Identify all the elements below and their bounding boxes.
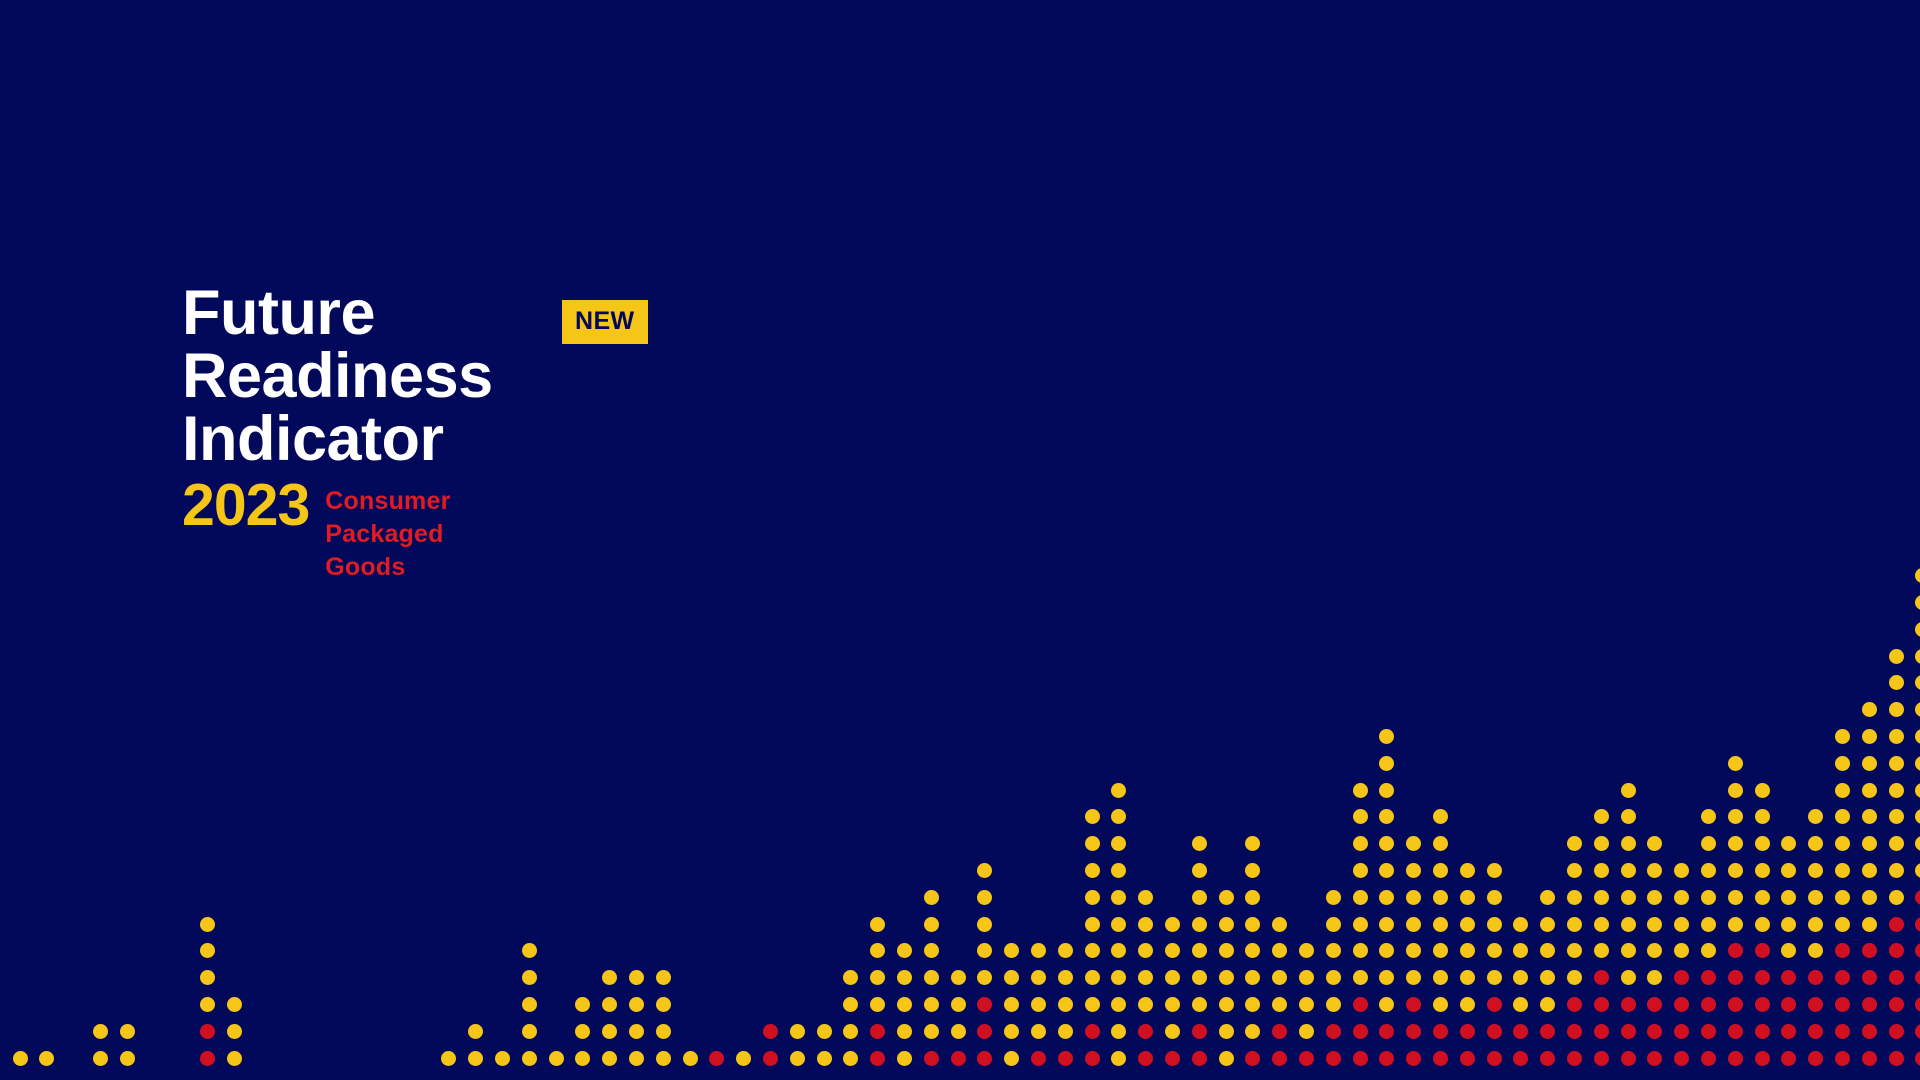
matrix-dot (1111, 890, 1126, 905)
matrix-dot (683, 1051, 698, 1066)
matrix-dot (1353, 997, 1368, 1012)
matrix-dot (1621, 836, 1636, 851)
matrix-dot (1219, 1051, 1234, 1066)
matrix-dot (1085, 890, 1100, 905)
matrix-dot (1728, 1024, 1743, 1039)
matrix-dot (1835, 1051, 1850, 1066)
matrix-dot (924, 943, 939, 958)
matrix-dot (1915, 970, 1920, 985)
matrix-dot (1808, 917, 1823, 932)
matrix-dot (1755, 783, 1770, 798)
matrix-dot (977, 970, 992, 985)
matrix-dot (1219, 997, 1234, 1012)
matrix-dot (656, 997, 671, 1012)
matrix-dot (1915, 836, 1920, 851)
matrix-dot (1138, 1024, 1153, 1039)
matrix-dot (1085, 917, 1100, 932)
matrix-dot (1111, 917, 1126, 932)
matrix-dot (1728, 1051, 1743, 1066)
matrix-dot (924, 917, 939, 932)
matrix-dot (629, 1051, 644, 1066)
matrix-dot (1755, 1051, 1770, 1066)
matrix-dot (1621, 809, 1636, 824)
matrix-dot (1299, 1024, 1314, 1039)
matrix-dot (1701, 863, 1716, 878)
matrix-dot (1353, 917, 1368, 932)
matrix-dot (1567, 1024, 1582, 1039)
matrix-dot (1245, 1051, 1260, 1066)
matrix-dot (575, 1051, 590, 1066)
matrix-dot (522, 1051, 537, 1066)
matrix-dot (1594, 997, 1609, 1012)
matrix-dot (656, 1024, 671, 1039)
matrix-dot (1406, 943, 1421, 958)
matrix-dot (1728, 809, 1743, 824)
matrix-dot (1915, 809, 1920, 824)
matrix-dot (1326, 1051, 1341, 1066)
matrix-dot (1701, 997, 1716, 1012)
matrix-dot (1219, 943, 1234, 958)
matrix-dot (1111, 997, 1126, 1012)
matrix-dot (1862, 1051, 1877, 1066)
matrix-dot (709, 1051, 724, 1066)
matrix-dot (575, 997, 590, 1012)
matrix-dot (1728, 970, 1743, 985)
matrix-dot (1004, 943, 1019, 958)
matrix-dot (629, 970, 644, 985)
matrix-dot (1353, 1024, 1368, 1039)
matrix-dot (1272, 997, 1287, 1012)
matrix-dot (1621, 970, 1636, 985)
matrix-dot (1138, 890, 1153, 905)
matrix-dot (200, 917, 215, 932)
matrix-dot (1111, 783, 1126, 798)
matrix-dot (1165, 997, 1180, 1012)
matrix-dot (1487, 1051, 1502, 1066)
matrix-dot (1487, 970, 1502, 985)
matrix-dot (1031, 997, 1046, 1012)
matrix-dot (1862, 943, 1877, 958)
matrix-dot (1781, 1051, 1796, 1066)
matrix-dot (1487, 1024, 1502, 1039)
matrix-dot (1460, 970, 1475, 985)
matrix-dot (1004, 970, 1019, 985)
matrix-dot (1487, 943, 1502, 958)
matrix-dot (522, 997, 537, 1012)
matrix-dot (1915, 729, 1920, 744)
matrix-dot (1915, 943, 1920, 958)
matrix-dot (1540, 997, 1555, 1012)
matrix-dot (200, 1051, 215, 1066)
matrix-dot (1755, 1024, 1770, 1039)
matrix-dot (1835, 1024, 1850, 1039)
matrix-dot (1701, 1051, 1716, 1066)
matrix-dot (1379, 917, 1394, 932)
matrix-dot (1192, 943, 1207, 958)
matrix-dot (736, 1051, 751, 1066)
matrix-dot (1433, 863, 1448, 878)
matrix-dot (1085, 943, 1100, 958)
matrix-dot (897, 1024, 912, 1039)
matrix-dot (1567, 997, 1582, 1012)
matrix-dot (1031, 943, 1046, 958)
matrix-dot (1567, 863, 1582, 878)
matrix-dot (1835, 836, 1850, 851)
matrix-dot (1058, 997, 1073, 1012)
matrix-dot (763, 1051, 778, 1066)
matrix-dot (1353, 809, 1368, 824)
matrix-dot (1621, 917, 1636, 932)
matrix-dot (1460, 997, 1475, 1012)
matrix-dot (1755, 943, 1770, 958)
matrix-dot (1540, 890, 1555, 905)
matrix-dot (1647, 890, 1662, 905)
matrix-dot (1862, 1024, 1877, 1039)
matrix-dot (1889, 649, 1904, 664)
matrix-dot (1460, 943, 1475, 958)
matrix-dot (1379, 970, 1394, 985)
matrix-dot (656, 970, 671, 985)
matrix-dot (1379, 836, 1394, 851)
matrix-dot (441, 1051, 456, 1066)
matrix-dot (93, 1024, 108, 1039)
matrix-dot (1406, 863, 1421, 878)
matrix-dot (1889, 1024, 1904, 1039)
matrix-dot (1647, 970, 1662, 985)
matrix-dot (1085, 863, 1100, 878)
matrix-dot (93, 1051, 108, 1066)
matrix-dot (200, 1024, 215, 1039)
subtitle-row: 2023 Consumer Packaged Goods (182, 475, 493, 584)
matrix-dot (1755, 890, 1770, 905)
matrix-dot (1647, 1024, 1662, 1039)
matrix-dot (1513, 997, 1528, 1012)
matrix-dot (1755, 809, 1770, 824)
matrix-dot (1245, 997, 1260, 1012)
matrix-dot (977, 1051, 992, 1066)
matrix-dot (1433, 943, 1448, 958)
matrix-dot (1406, 970, 1421, 985)
matrix-dot (1085, 997, 1100, 1012)
matrix-dot (1540, 917, 1555, 932)
matrix-dot (1111, 943, 1126, 958)
matrix-dot (1621, 1024, 1636, 1039)
matrix-dot (468, 1051, 483, 1066)
matrix-dot (1379, 890, 1394, 905)
matrix-dot (977, 1024, 992, 1039)
matrix-dot (1513, 943, 1528, 958)
matrix-dot (1835, 863, 1850, 878)
matrix-dot (1621, 783, 1636, 798)
matrix-dot (1165, 1024, 1180, 1039)
matrix-dot (1701, 836, 1716, 851)
matrix-dot (1326, 943, 1341, 958)
matrix-dot (1299, 943, 1314, 958)
matrix-dot (1728, 783, 1743, 798)
matrix-dot (227, 997, 242, 1012)
matrix-dot (1701, 890, 1716, 905)
matrix-dot (1889, 943, 1904, 958)
matrix-dot (977, 943, 992, 958)
matrix-dot (817, 1024, 832, 1039)
title-line-1: Future (182, 282, 493, 345)
matrix-dot (1781, 917, 1796, 932)
matrix-dot (1379, 809, 1394, 824)
matrix-dot (1433, 836, 1448, 851)
matrix-dot (1406, 917, 1421, 932)
matrix-dot (1460, 917, 1475, 932)
matrix-dot (1674, 1051, 1689, 1066)
matrix-dot (1353, 836, 1368, 851)
matrix-dot (1567, 943, 1582, 958)
matrix-dot (495, 1051, 510, 1066)
matrix-dot (1862, 702, 1877, 717)
matrix-dot (1085, 809, 1100, 824)
matrix-dot (1755, 863, 1770, 878)
matrix-dot (843, 970, 858, 985)
matrix-dot (1433, 890, 1448, 905)
matrix-dot (1835, 809, 1850, 824)
matrix-dot (1567, 1051, 1582, 1066)
matrix-dot (120, 1051, 135, 1066)
matrix-dot (1808, 943, 1823, 958)
matrix-dot (1406, 997, 1421, 1012)
matrix-dot (1379, 1024, 1394, 1039)
matrix-dot (1111, 1051, 1126, 1066)
matrix-dot (200, 970, 215, 985)
matrix-dot (1460, 1024, 1475, 1039)
matrix-dot (1889, 917, 1904, 932)
matrix-dot (39, 1051, 54, 1066)
matrix-dot (870, 1051, 885, 1066)
matrix-dot (1513, 1024, 1528, 1039)
matrix-dot (1433, 917, 1448, 932)
matrix-dot (924, 890, 939, 905)
matrix-dot (1621, 1051, 1636, 1066)
matrix-dot (1192, 917, 1207, 932)
matrix-dot (1728, 917, 1743, 932)
sector-line-3: Goods (325, 551, 450, 584)
matrix-dot (843, 1051, 858, 1066)
hero-text-group: Future Readiness Indicator NEW 2023 Cons… (182, 282, 493, 584)
matrix-dot (870, 1024, 885, 1039)
matrix-dot (656, 1051, 671, 1066)
matrix-dot (1379, 783, 1394, 798)
matrix-dot (1915, 756, 1920, 771)
matrix-dot (1379, 943, 1394, 958)
matrix-dot (1085, 1024, 1100, 1039)
matrix-dot (1567, 917, 1582, 932)
matrix-dot (1889, 756, 1904, 771)
matrix-dot (1272, 1024, 1287, 1039)
matrix-dot (1647, 1051, 1662, 1066)
matrix-dot (602, 1051, 617, 1066)
matrix-dot (200, 997, 215, 1012)
new-badge: NEW (562, 300, 648, 344)
matrix-dot (1594, 1051, 1609, 1066)
matrix-dot (1701, 1024, 1716, 1039)
matrix-dot (1111, 970, 1126, 985)
matrix-dot (1192, 970, 1207, 985)
matrix-dot (1835, 729, 1850, 744)
matrix-dot (1621, 863, 1636, 878)
matrix-dot (1835, 783, 1850, 798)
matrix-dot (1379, 729, 1394, 744)
matrix-dot (1245, 1024, 1260, 1039)
matrix-dot (1004, 1051, 1019, 1066)
matrix-dot (1594, 970, 1609, 985)
matrix-dot (1889, 729, 1904, 744)
matrix-dot (1353, 970, 1368, 985)
matrix-dot (1594, 943, 1609, 958)
matrix-dot (1272, 970, 1287, 985)
matrix-dot (1808, 863, 1823, 878)
matrix-dot (629, 997, 644, 1012)
matrix-dot (468, 1024, 483, 1039)
matrix-dot (1755, 917, 1770, 932)
matrix-dot (1272, 1051, 1287, 1066)
matrix-dot (977, 917, 992, 932)
matrix-dot (1915, 1051, 1920, 1066)
matrix-dot (1915, 622, 1920, 637)
matrix-dot (1915, 890, 1920, 905)
matrix-dot (1406, 1051, 1421, 1066)
title-line-2: Readiness (182, 345, 493, 408)
matrix-dot (1326, 1024, 1341, 1039)
matrix-dot (1674, 943, 1689, 958)
matrix-dot (1085, 970, 1100, 985)
matrix-dot (1460, 1051, 1475, 1066)
matrix-dot (1755, 997, 1770, 1012)
matrix-dot (1513, 1051, 1528, 1066)
matrix-dot (1219, 917, 1234, 932)
matrix-dot (1192, 836, 1207, 851)
matrix-dot (1621, 890, 1636, 905)
matrix-dot (1406, 1024, 1421, 1039)
matrix-dot (1728, 943, 1743, 958)
matrix-dot (951, 970, 966, 985)
matrix-dot (1647, 943, 1662, 958)
matrix-dot (1567, 890, 1582, 905)
matrix-dot (1594, 836, 1609, 851)
matrix-dot (870, 917, 885, 932)
matrix-dot (1915, 1024, 1920, 1039)
matrix-dot (1808, 1024, 1823, 1039)
matrix-dot (1540, 1024, 1555, 1039)
matrix-dot (1755, 970, 1770, 985)
matrix-dot (1138, 997, 1153, 1012)
matrix-dot (1433, 997, 1448, 1012)
matrix-dot (522, 943, 537, 958)
matrix-dot (1647, 997, 1662, 1012)
matrix-dot (1406, 890, 1421, 905)
matrix-dot (1781, 863, 1796, 878)
matrix-dot (1728, 836, 1743, 851)
matrix-dot (763, 1024, 778, 1039)
matrix-dot (1915, 863, 1920, 878)
title-line-3: Indicator (182, 408, 493, 471)
matrix-dot (629, 1024, 644, 1039)
matrix-dot (1272, 943, 1287, 958)
matrix-dot (1192, 997, 1207, 1012)
matrix-dot (1379, 756, 1394, 771)
matrix-dot (1487, 890, 1502, 905)
matrix-dot (1567, 836, 1582, 851)
matrix-dot (1889, 702, 1904, 717)
sector-line-1: Consumer (325, 485, 450, 518)
matrix-dot (870, 970, 885, 985)
matrix-dot (1835, 890, 1850, 905)
matrix-dot (1781, 836, 1796, 851)
matrix-dot (1621, 997, 1636, 1012)
matrix-dot (1915, 675, 1920, 690)
matrix-dot (1728, 890, 1743, 905)
matrix-dot (549, 1051, 564, 1066)
matrix-dot (1862, 836, 1877, 851)
matrix-dot (843, 997, 858, 1012)
matrix-dot (1755, 836, 1770, 851)
matrix-dot (1192, 863, 1207, 878)
matrix-dot (924, 1024, 939, 1039)
matrix-dot (1808, 1051, 1823, 1066)
matrix-dot (1781, 997, 1796, 1012)
matrix-dot (1540, 1051, 1555, 1066)
matrix-dot (951, 997, 966, 1012)
matrix-dot (1219, 1024, 1234, 1039)
matrix-dot (1085, 836, 1100, 851)
matrix-dot (1299, 997, 1314, 1012)
matrix-dot (1326, 970, 1341, 985)
matrix-dot (1245, 863, 1260, 878)
matrix-dot (1862, 809, 1877, 824)
matrix-dot (1889, 890, 1904, 905)
matrix-dot (1889, 997, 1904, 1012)
matrix-dot (1245, 890, 1260, 905)
matrix-dot (924, 997, 939, 1012)
matrix-dot (870, 997, 885, 1012)
matrix-dot (1701, 943, 1716, 958)
matrix-dot (1889, 675, 1904, 690)
matrix-dot (1487, 997, 1502, 1012)
sector-label: Consumer Packaged Goods (325, 475, 450, 584)
matrix-dot (951, 1024, 966, 1039)
matrix-dot (1299, 1051, 1314, 1066)
matrix-dot (1379, 997, 1394, 1012)
matrix-dot (1674, 1024, 1689, 1039)
matrix-dot (1433, 809, 1448, 824)
matrix-dot (1862, 970, 1877, 985)
matrix-dot (1567, 970, 1582, 985)
matrix-dot (1781, 890, 1796, 905)
matrix-dot (1031, 1024, 1046, 1039)
matrix-dot (1889, 970, 1904, 985)
matrix-dot (1621, 943, 1636, 958)
matrix-dot (1165, 917, 1180, 932)
matrix-dot (1165, 943, 1180, 958)
matrix-dot (1594, 809, 1609, 824)
matrix-dot (1889, 863, 1904, 878)
matrix-dot (1219, 890, 1234, 905)
matrix-dot (1915, 702, 1920, 717)
matrix-dot (1353, 890, 1368, 905)
matrix-dot (1808, 809, 1823, 824)
matrix-dot (1326, 890, 1341, 905)
matrix-dot (1862, 729, 1877, 744)
matrix-dot (1835, 970, 1850, 985)
matrix-dot (1379, 863, 1394, 878)
matrix-dot (1781, 943, 1796, 958)
matrix-dot (1326, 917, 1341, 932)
